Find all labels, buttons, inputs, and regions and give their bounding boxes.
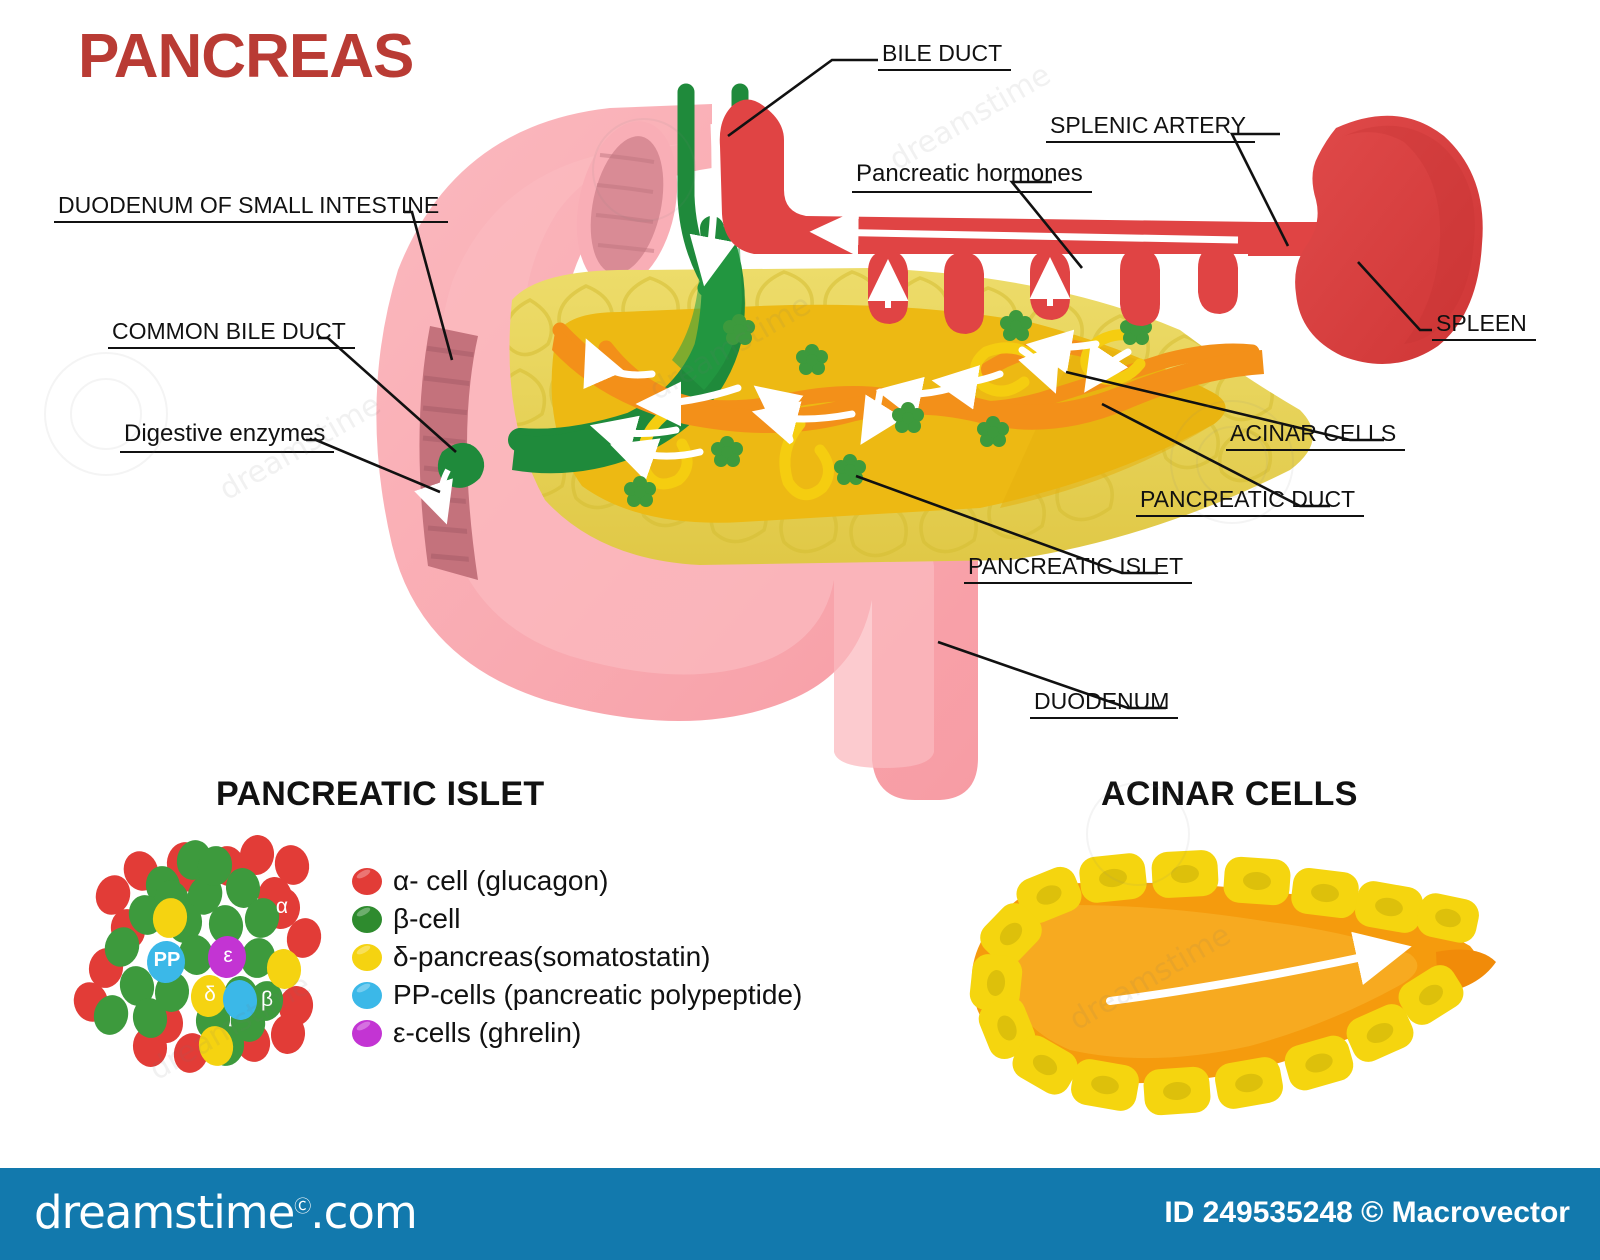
dreamstime-domain: .com xyxy=(310,1186,416,1239)
watermark-ring xyxy=(1086,782,1190,886)
dreamstime-logo: dreamstimeⒸ.com xyxy=(34,1186,417,1239)
watermark-ring xyxy=(592,118,696,222)
watermark-ring xyxy=(1196,426,1268,498)
illustration-canvas: PANCREAS BILE DUCT SPLENIC ARTERY Pancre… xyxy=(0,0,1600,1260)
image-credit: ID 249535248 © Macrovector xyxy=(1164,1196,1570,1230)
watermark-ring xyxy=(70,378,142,450)
registered-icon: Ⓒ xyxy=(294,1197,310,1217)
dreamstime-brand: dreamstime xyxy=(34,1186,294,1239)
acinar-cells-illustration xyxy=(0,0,1600,1260)
